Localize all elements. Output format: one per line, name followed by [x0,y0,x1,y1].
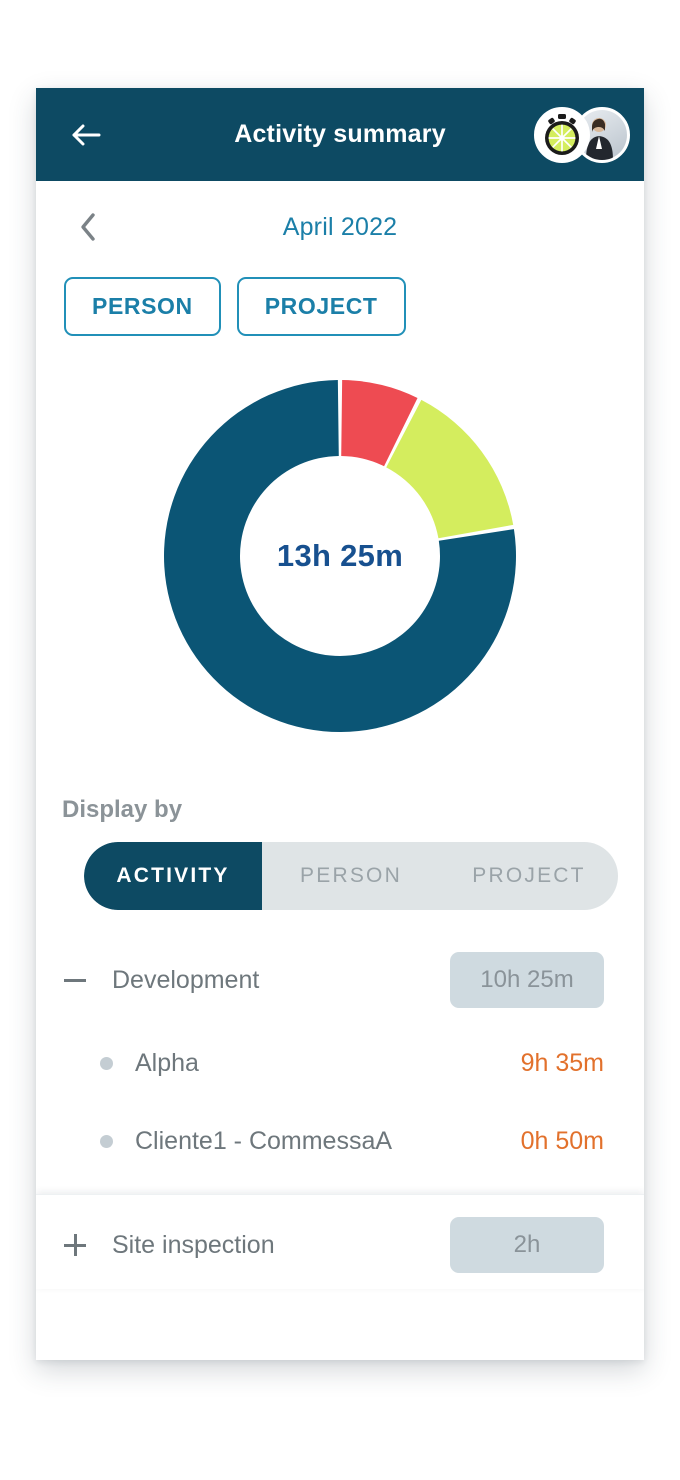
expand-toggle-site-inspection[interactable] [64,1234,98,1256]
arrow-left-icon [71,123,101,147]
activity-group-row-development[interactable]: Development 10h 25m [36,936,644,1024]
child-time-cliente1: 0h 50m [521,1127,604,1156]
activity-name-site-inspection: Site inspection [98,1231,450,1260]
activity-total-development: 10h 25m [450,952,604,1008]
display-by-segmented-control: ACTIVITY PERSON PROJECT [84,842,618,910]
filter-buttons: PERSON PROJECT [36,273,644,336]
filter-project-button[interactable]: PROJECT [237,277,406,336]
activity-child-row-cliente1[interactable]: Cliente1 - CommessaA 0h 50m [36,1102,644,1180]
segment-project[interactable]: PROJECT [440,842,618,910]
collapse-toggle-development[interactable] [64,969,98,991]
segment-activity[interactable]: ACTIVITY [84,842,262,910]
activity-name-development: Development [98,966,450,995]
donut-svg[interactable] [164,380,516,732]
phone-screen-card: Activity summary [36,88,644,1360]
bullet-icon [100,1057,113,1070]
activity-donut-chart: 13h 25m [36,336,644,776]
plus-icon [64,1234,86,1256]
display-by-label: Display by [36,776,644,824]
child-name-cliente1: Cliente1 - CommessaA [113,1127,521,1156]
child-time-alpha: 9h 35m [521,1049,604,1078]
segment-person[interactable]: PERSON [262,842,440,910]
month-navigation: April 2022 [36,181,644,273]
chevron-left-icon [79,212,97,242]
activity-total-site-inspection: 2h [450,1217,604,1273]
activity-subcard: Site inspection 2h [36,1194,644,1289]
current-month-label: April 2022 [283,213,398,242]
bullet-icon [100,1135,113,1148]
app-bar: Activity summary [36,88,644,181]
brand-avatar[interactable] [534,107,590,163]
back-button[interactable] [64,113,108,157]
minus-icon [64,969,86,991]
child-name-alpha: Alpha [113,1049,521,1078]
avatar-group[interactable] [534,107,630,163]
filter-person-button[interactable]: PERSON [64,277,221,336]
activity-child-row-alpha[interactable]: Alpha 9h 35m [36,1024,644,1102]
donut-wrapper: 13h 25m [164,380,516,732]
activity-group-row-site-inspection[interactable]: Site inspection 2h [36,1201,644,1289]
activity-list: Development 10h 25m Alpha 9h 35m Cliente… [36,936,644,1289]
previous-month-button[interactable] [66,205,110,249]
lime-stopwatch-logo [537,110,587,160]
